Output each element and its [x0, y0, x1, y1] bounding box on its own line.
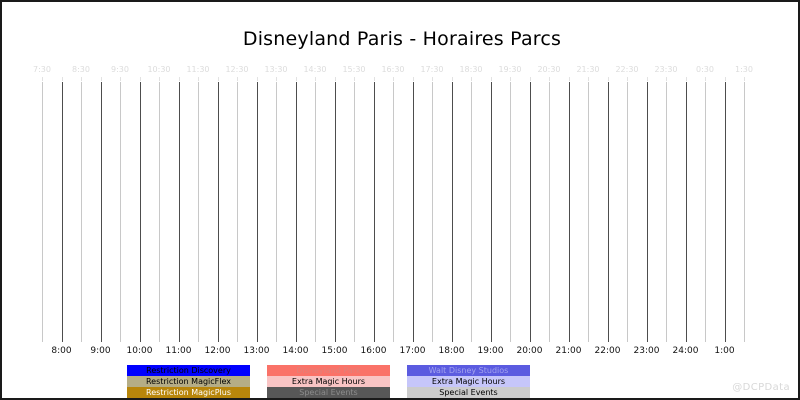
gridline-hour [140, 82, 141, 342]
tick-mark-top [335, 77, 336, 81]
tick-label-top: 12:30 [225, 65, 248, 74]
plot-area: 7:308:309:3010:3011:3012:3013:3014:3015:… [2, 2, 800, 400]
tick-label-top: 14:30 [303, 65, 326, 74]
tick-mark-top [296, 77, 297, 81]
tick-mark-top [627, 77, 628, 81]
tick-mark-top [530, 77, 531, 81]
tick-mark-top [666, 77, 667, 81]
gridline-half-hour [471, 82, 472, 342]
gridline-half-hour [354, 82, 355, 342]
tick-label-bottom: 23:00 [634, 346, 660, 356]
gridline-half-hour [120, 82, 121, 342]
chart-page: Disneyland Paris - Horaires Parcs 7:308:… [0, 0, 800, 400]
tick-label-bottom: 14:00 [283, 346, 309, 356]
tick-mark-top [237, 77, 238, 81]
gridline-hour [257, 82, 258, 342]
tick-label-top: 7:30 [33, 65, 51, 74]
tick-label-top: 13:30 [264, 65, 287, 74]
tick-label-top: 15:30 [342, 65, 365, 74]
tick-label-top: 20:30 [537, 65, 560, 74]
gridline-hour [530, 82, 531, 342]
gridline-hour [413, 82, 414, 342]
gridline-hour [296, 82, 297, 342]
tick-mark-top [179, 77, 180, 81]
gridline-hour [686, 82, 687, 342]
tick-mark-top [315, 77, 316, 81]
tick-mark-top [491, 77, 492, 81]
tick-mark-top [198, 77, 199, 81]
tick-mark-top [120, 77, 121, 81]
legend-column-walt-disney-studios: Walt Disney StudiosExtra Magic HoursSpec… [407, 365, 530, 398]
gridline-hour [179, 82, 180, 342]
tick-mark-top [101, 77, 102, 81]
tick-label-top: 22:30 [615, 65, 638, 74]
gridline-half-hour [588, 82, 589, 342]
tick-label-bottom: 24:00 [673, 346, 699, 356]
tick-mark-top [744, 77, 745, 81]
tick-label-top: 1:30 [735, 65, 753, 74]
tick-label-top: 18:30 [459, 65, 482, 74]
gridline-half-hour [549, 82, 550, 342]
gridline-half-hour [744, 82, 745, 342]
tick-mark-top [374, 77, 375, 81]
tick-label-bottom: 9:00 [90, 346, 110, 356]
tick-mark-top [140, 77, 141, 81]
tick-label-top: 19:30 [498, 65, 521, 74]
tick-label-bottom: 16:00 [361, 346, 387, 356]
tick-label-bottom: 18:00 [439, 346, 465, 356]
gridline-hour [62, 82, 63, 342]
tick-mark-top [549, 77, 550, 81]
tick-label-top: 21:30 [576, 65, 599, 74]
gridline-hour [218, 82, 219, 342]
legend-item[interactable]: Restriction Discovery [127, 365, 250, 376]
tick-label-bottom: 1:00 [714, 346, 734, 356]
legend-item[interactable]: Extra Magic Hours [407, 376, 530, 387]
tick-label-bottom: 15:00 [322, 346, 348, 356]
gridline-half-hour [666, 82, 667, 342]
gridline-half-hour [393, 82, 394, 342]
tick-label-bottom: 13:00 [244, 346, 270, 356]
tick-label-top: 9:30 [111, 65, 129, 74]
tick-mark-top [276, 77, 277, 81]
tick-label-top: 0:30 [696, 65, 714, 74]
tick-label-bottom: 17:00 [400, 346, 426, 356]
gridline-hour [452, 82, 453, 342]
tick-label-bottom: 22:00 [595, 346, 621, 356]
tick-mark-top [647, 77, 648, 81]
tick-label-bottom: 19:00 [478, 346, 504, 356]
tick-mark-top [705, 77, 706, 81]
tick-mark-top [725, 77, 726, 81]
tick-mark-top [159, 77, 160, 81]
tick-mark-top [354, 77, 355, 81]
tick-mark-top [510, 77, 511, 81]
tick-label-bottom: 12:00 [205, 346, 231, 356]
tick-mark-top [588, 77, 589, 81]
gridline-half-hour [159, 82, 160, 342]
gridline-half-hour [705, 82, 706, 342]
tick-mark-top [218, 77, 219, 81]
legend-item[interactable]: Disneyland Park [267, 365, 390, 376]
gridline-half-hour [276, 82, 277, 342]
tick-mark-top [81, 77, 82, 81]
gridline-hour [101, 82, 102, 342]
gridline-hour [374, 82, 375, 342]
tick-label-bottom: 8:00 [51, 346, 71, 356]
tick-mark-top [608, 77, 609, 81]
legend-item[interactable]: Special Events [407, 387, 530, 398]
legend-column-restrictions: Restriction DiscoveryRestriction MagicFl… [127, 365, 250, 398]
tick-mark-top [432, 77, 433, 81]
legend-item[interactable]: Restriction MagicPlus [127, 387, 250, 398]
tick-label-bottom: 10:00 [127, 346, 153, 356]
tick-mark-top [471, 77, 472, 81]
tick-mark-top [62, 77, 63, 81]
tick-label-bottom: 11:00 [166, 346, 192, 356]
tick-mark-top [569, 77, 570, 81]
gridline-hour [647, 82, 648, 342]
tick-mark-top [257, 77, 258, 81]
gridline-hour [725, 82, 726, 342]
watermark: @DCPData [732, 382, 790, 393]
legend-item[interactable]: Restriction MagicFlex [127, 376, 250, 387]
tick-label-top: 23:30 [654, 65, 677, 74]
gridline-hour [569, 82, 570, 342]
gridline-half-hour [237, 82, 238, 342]
tick-mark-top [452, 77, 453, 81]
tick-label-top: 17:30 [420, 65, 443, 74]
gridline-half-hour [198, 82, 199, 342]
legend-item[interactable]: Walt Disney Studios [407, 365, 530, 376]
gridline-half-hour [510, 82, 511, 342]
gridline-half-hour [81, 82, 82, 342]
tick-mark-top [393, 77, 394, 81]
tick-label-bottom: 21:00 [556, 346, 582, 356]
tick-mark-top [42, 77, 43, 81]
gridline-half-hour [432, 82, 433, 342]
legend-item[interactable]: Special Events [267, 387, 390, 398]
tick-label-bottom: 20:00 [517, 346, 543, 356]
legend-column-disneyland-park: Disneyland ParkExtra Magic HoursSpecial … [267, 365, 390, 398]
legend-item[interactable]: Extra Magic Hours [267, 376, 390, 387]
gridline-hour [608, 82, 609, 342]
gridline-hour [491, 82, 492, 342]
tick-label-top: 11:30 [186, 65, 209, 74]
tick-mark-top [686, 77, 687, 81]
tick-label-top: 16:30 [381, 65, 404, 74]
gridline-half-hour [627, 82, 628, 342]
tick-label-top: 8:30 [72, 65, 90, 74]
tick-label-top: 10:30 [147, 65, 170, 74]
gridline-half-hour [315, 82, 316, 342]
gridline-hour [335, 82, 336, 342]
gridline-half-hour [42, 82, 43, 342]
legend: Restriction DiscoveryRestriction MagicFl… [127, 365, 530, 398]
tick-mark-top [413, 77, 414, 81]
